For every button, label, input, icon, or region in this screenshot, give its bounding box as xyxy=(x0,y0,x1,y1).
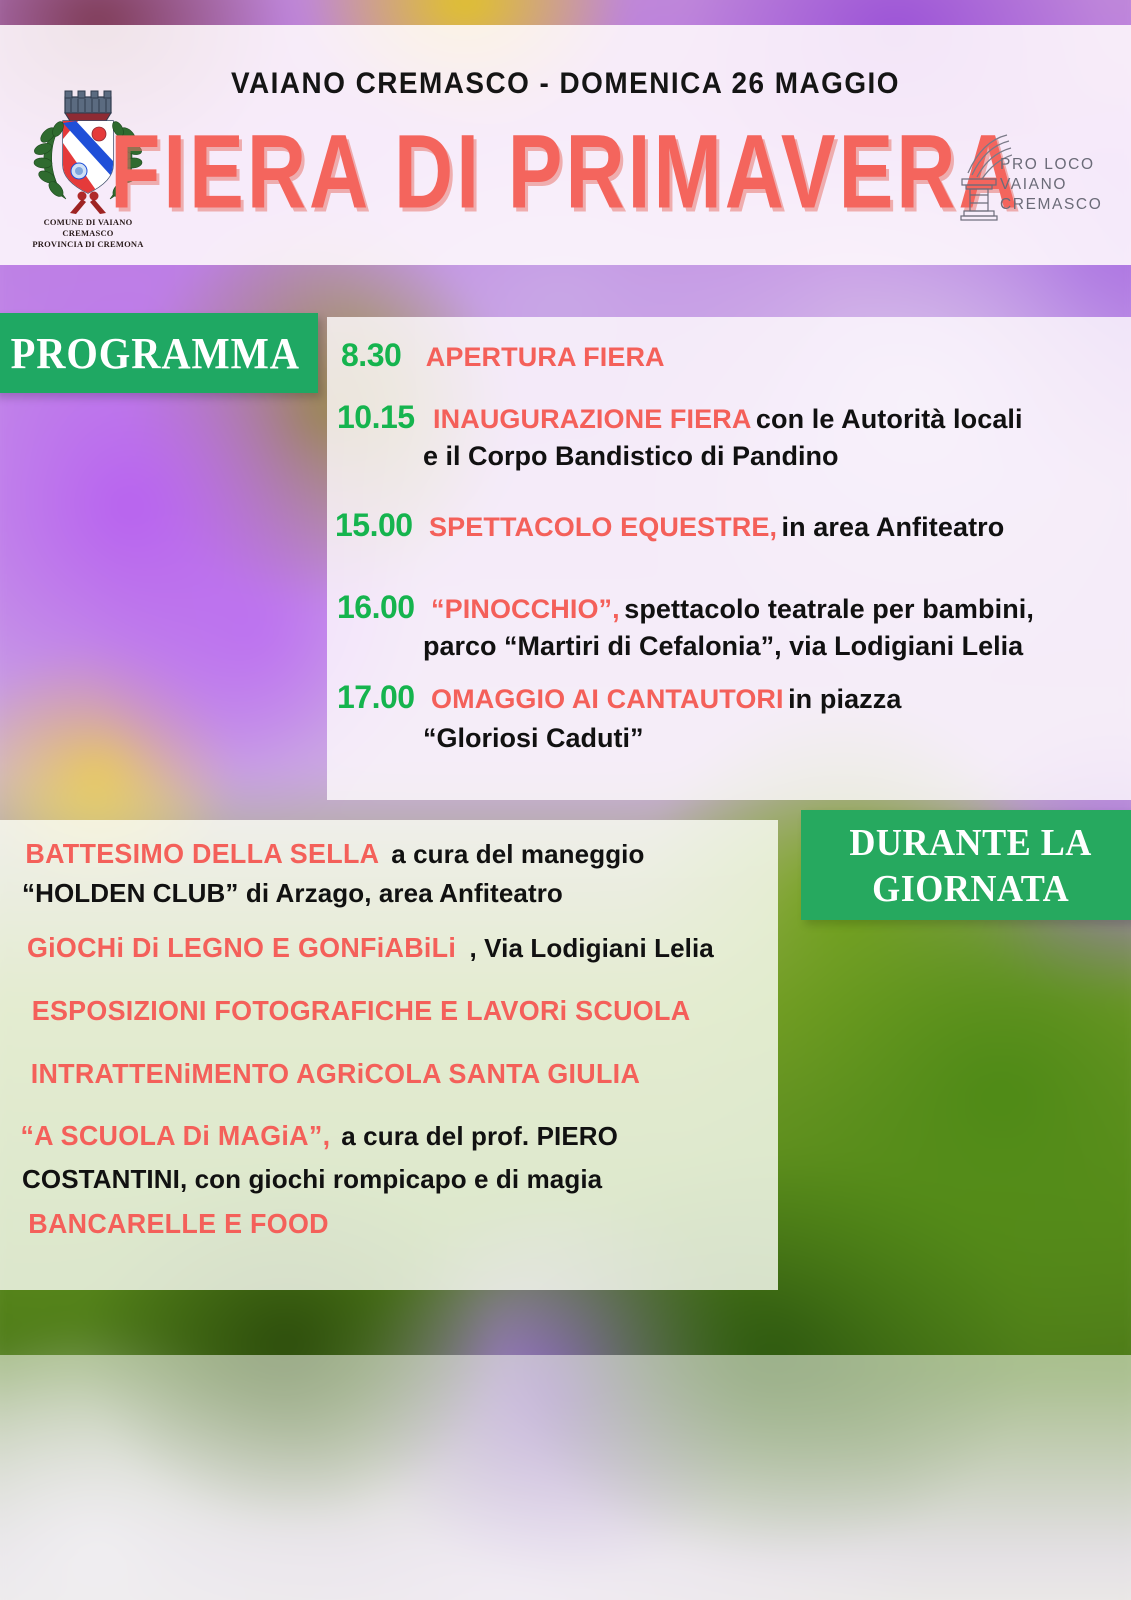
durante-entry-3: INTRATTENiMENTO AGRiCOLA SANTA GIULIA xyxy=(18,1058,653,1090)
durante-heading-line2: GIORNATA xyxy=(872,866,1069,912)
durante-entry-2: ESPOSIZIONI FOTOGRAFICHE E LAVORi SCUOLA xyxy=(18,995,704,1027)
program-cont-3: parco “Martiri di Cefalonia”, via Lodigi… xyxy=(423,631,1023,662)
poster-root: COMUNE DI VAIANO CREMASCO PROVINCIA DI C… xyxy=(0,0,1131,1600)
durante-red-5: BANCARELLE E FOOD xyxy=(28,1208,329,1240)
durante-panel: BATTESIMO DELLA SELLA a cura del maneggi… xyxy=(0,820,778,1290)
durante-heading-line1: DURANTE LA xyxy=(850,820,1092,866)
program-title-2: SPETTACOLO EQUESTRE, xyxy=(429,512,777,542)
proloco-line1: PRO LOCO xyxy=(1000,155,1102,175)
program-title-1: INAUGURAZIONE FIERA xyxy=(433,404,751,434)
proloco-text-block: PRO LOCO VAIANO CREMASCO xyxy=(1000,155,1102,215)
durante-entry-5: BANCARELLE E FOOD xyxy=(22,1208,335,1240)
program-rest-3: spettacolo teatrale per bambini, xyxy=(624,594,1034,624)
proloco-line3: CREMASCO xyxy=(1000,195,1102,215)
header-band: COMUNE DI VAIANO CREMASCO PROVINCIA DI C… xyxy=(0,25,1131,265)
durante-heading-badge: DURANTE LA GIORNATA xyxy=(801,810,1131,920)
programma-heading-label: PROGRAMMA xyxy=(10,328,299,379)
proloco-line2: VAIANO xyxy=(1000,175,1102,195)
durante-black-4: a cura del prof. PIERO xyxy=(341,1121,618,1151)
durante-red-3: INTRATTENiMENTO AGRiCOLA SANTA GIULIA xyxy=(31,1058,640,1090)
program-time-4: 17.00 xyxy=(337,679,415,715)
bottom-veil-overlay xyxy=(0,1355,1131,1600)
durante-black-1: , Via Lodigiani Lelia xyxy=(470,933,714,963)
event-date-line: VAIANO CREMASCO - DOMENICA 26 MAGGIO xyxy=(40,67,1092,101)
durante-entry-1: GiOCHi Di LEGNO E GONFiABiLi , Via Lodig… xyxy=(18,932,714,964)
program-entry-1: 10.15 INAUGURAZIONE FIERA con le Autorit… xyxy=(337,399,1023,436)
program-time-1: 10.15 xyxy=(337,399,415,435)
program-entry-0: 8.30 APERTURA FIERA xyxy=(341,337,665,374)
durante-black-0: a cura del maneggio xyxy=(391,839,644,869)
durante-red-2: ESPOSIZIONI FOTOGRAFICHE E LAVORi SCUOLA xyxy=(32,995,691,1027)
durante-entry-0: BATTESIMO DELLA SELLA a cura del maneggi… xyxy=(18,838,645,870)
program-time-0: 8.30 xyxy=(341,337,401,373)
program-time-2: 15.00 xyxy=(335,507,413,543)
durante-red-0: BATTESIMO DELLA SELLA xyxy=(25,838,379,870)
program-rest-4: in piazza xyxy=(788,684,901,714)
comune-caption-line2: PROVINCIA DI CREMONA xyxy=(18,239,158,250)
program-entry-2: 15.00 SPETTACOLO EQUESTRE, in area Anfit… xyxy=(335,507,1004,544)
durante-entry-4: “A SCUOLA Di MAGiA”, a cura del prof. PI… xyxy=(14,1120,618,1152)
durante-cont-0: “HOLDEN CLUB” di Arzago, area Anfiteatro xyxy=(22,878,563,909)
program-rest-2: in area Anfiteatro xyxy=(782,512,1005,542)
proloco-logo: PRO LOCO VAIANO CREMASCO xyxy=(952,133,1122,228)
program-rest-1: con le Autorità locali xyxy=(756,404,1023,434)
durante-red-1: GiOCHi Di LEGNO E GONFiABiLi xyxy=(27,932,456,964)
program-entry-4: 17.00 OMAGGIO AI CANTAUTORI in piazza xyxy=(337,679,902,716)
program-time-3: 16.00 xyxy=(337,589,415,625)
program-title-3: “PINOCCHIO”, xyxy=(431,594,620,624)
program-cont-1: e il Corpo Bandistico di Pandino xyxy=(423,441,839,472)
durante-red-4: “A SCUOLA Di MAGiA”, xyxy=(20,1120,330,1152)
durante-cont-4: COSTANTINI, con giochi rompicapo e di ma… xyxy=(22,1164,602,1195)
programma-panel: 8.30 APERTURA FIERA 10.15 INAUGURAZIONE … xyxy=(327,317,1131,800)
program-cont-4: “Gloriosi Caduti” xyxy=(423,723,644,754)
programma-heading-badge: PROGRAMMA xyxy=(0,313,318,393)
program-entry-3: 16.00 “PINOCCHIO”, spettacolo teatrale p… xyxy=(337,589,1034,626)
program-title-0: APERTURA FIERA xyxy=(426,342,665,372)
program-title-4: OMAGGIO AI CANTAUTORI xyxy=(431,684,784,714)
